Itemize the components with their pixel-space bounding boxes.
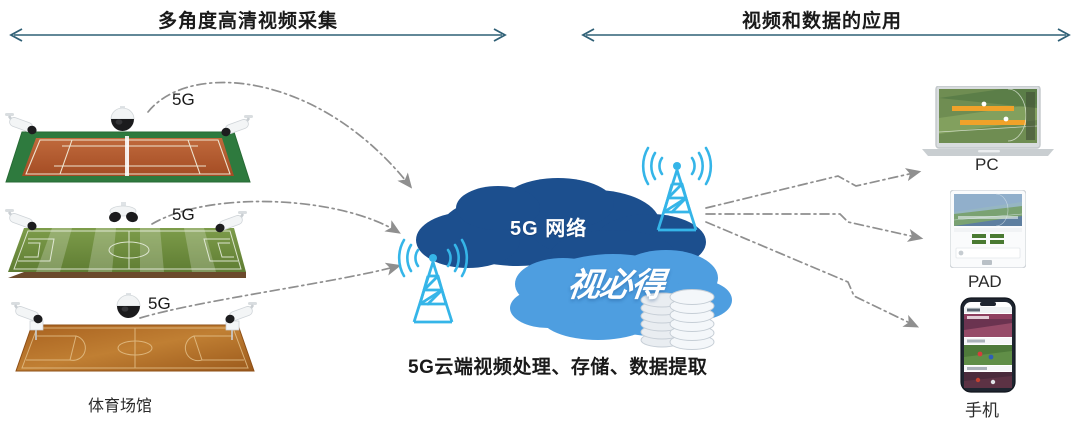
venue-soccer-field bbox=[2, 212, 252, 286]
uplink-label-soccer: 5G bbox=[172, 205, 195, 225]
venues-group-label: 体育场馆 bbox=[88, 392, 152, 416]
dome-camera-top bbox=[106, 202, 142, 232]
dome-camera-top bbox=[106, 106, 140, 138]
bullet-camera-right bbox=[218, 299, 260, 329]
uplink-label-basketball: 5G bbox=[148, 294, 171, 314]
network-cloud-label: 5G 网络 bbox=[510, 212, 587, 241]
smartphone-icon[interactable] bbox=[960, 297, 1016, 393]
5g-tower-right-icon bbox=[640, 136, 714, 232]
tablet-icon[interactable] bbox=[950, 190, 1026, 268]
bullet-camera-right bbox=[208, 208, 250, 238]
right-section-range-arrow bbox=[576, 28, 1076, 42]
left-section-range-arrow bbox=[4, 28, 512, 42]
device-label-phone: 手机 bbox=[965, 396, 999, 421]
bullet-camera-right bbox=[214, 112, 256, 142]
venue-tennis-court bbox=[2, 116, 252, 190]
diagram-canvas: 多角度高清视频采集 视频和数据的应用 bbox=[0, 0, 1080, 424]
bullet-camera-left bbox=[2, 206, 44, 236]
venue-basketball-court bbox=[10, 307, 260, 381]
cloud-caption: 5G云端视频处理、存储、数据提取 bbox=[408, 352, 707, 379]
bullet-camera-left bbox=[8, 299, 50, 329]
laptop-icon[interactable] bbox=[922, 86, 1054, 158]
bullet-camera-left bbox=[2, 110, 44, 140]
device-label-pad: PAD bbox=[968, 272, 1002, 292]
uplink-label-tennis: 5G bbox=[172, 90, 195, 110]
device-label-pc: PC bbox=[975, 155, 999, 175]
brand-logo-text: 视必得 bbox=[565, 258, 667, 306]
5g-tower-left-icon bbox=[396, 228, 470, 324]
dome-camera-top bbox=[112, 293, 146, 325]
